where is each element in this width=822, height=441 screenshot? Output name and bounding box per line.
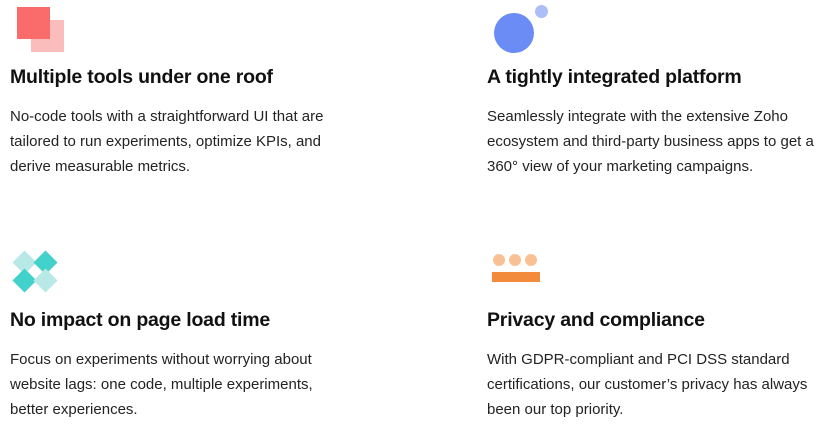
feature-card-privacy-compliance: Privacy and compliance With GDPR-complia…	[480, 245, 822, 441]
circle-small-shape	[535, 5, 548, 18]
feature-card-integrated-platform: A tightly integrated platform Seamlessly…	[480, 0, 822, 245]
bar-shape	[492, 272, 540, 282]
feature-title: No impact on page load time	[10, 309, 480, 332]
feature-description: With GDPR-compliant and PCI DSS standard…	[487, 347, 817, 422]
feature-title: Multiple tools under one roof	[10, 66, 480, 89]
feature-title: A tightly integrated platform	[487, 66, 822, 89]
dot-third-shape	[525, 254, 537, 266]
feature-card-page-load-time: No impact on page load time Focus on exp…	[0, 245, 480, 441]
overlapping-squares-icon	[10, 0, 70, 52]
feature-card-multiple-tools: Multiple tools under one roof No-code to…	[0, 0, 480, 245]
circle-large-shape	[494, 13, 534, 53]
feature-title: Privacy and compliance	[487, 309, 822, 332]
feature-description: Focus on experiments without worrying ab…	[10, 347, 340, 422]
feature-description: Seamlessly integrate with the extensive …	[487, 104, 817, 179]
feature-description: No-code tools with a straightforward UI …	[10, 104, 340, 179]
circle-with-dot-icon	[487, 0, 547, 52]
four-diamonds-x-icon	[10, 245, 70, 291]
dots-over-bar-icon	[487, 245, 547, 291]
diamond-bottom-right-shape	[33, 268, 57, 292]
dot-second-shape	[509, 254, 521, 266]
features-grid: Multiple tools under one roof No-code to…	[0, 0, 822, 441]
dot-first-shape	[493, 254, 505, 266]
square-front-shape	[17, 7, 50, 39]
